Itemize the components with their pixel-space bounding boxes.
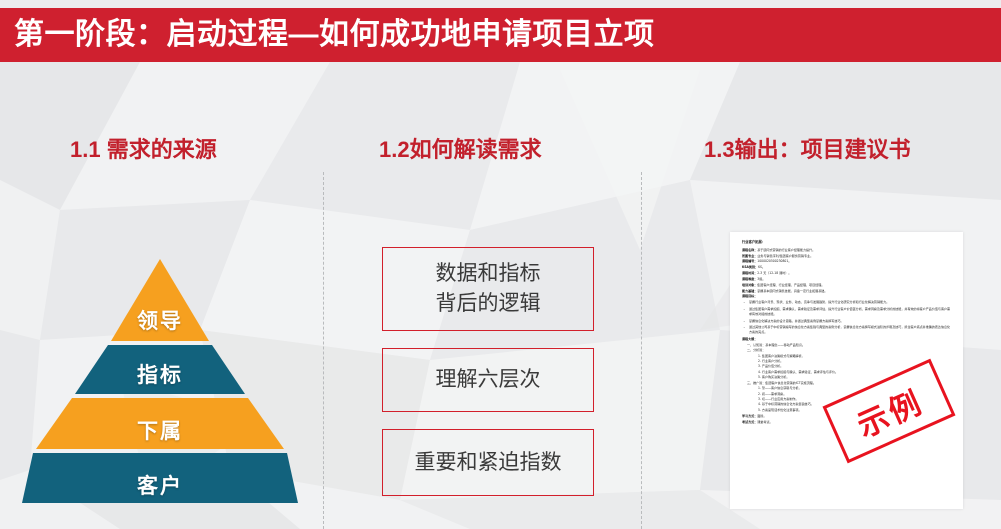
document-outline-section: 二、分析篇：集团客户决策模式与策略解析。行业客户分析。产品价值分析。行业客户需求… [742, 348, 953, 380]
document-page: 行业客户拓展： 课程名称：基于顾问式营销的行业客户经理能力提升。所属专业：业务与… [730, 232, 963, 509]
document-outline-subitem: 方案呈现话术优化注意事项。 [758, 408, 953, 413]
document-goal-list: 掌握行业客户背景、现状、业务、动态、竞争与发展趋势，提升行业化研究分析和行业化解… [742, 300, 953, 335]
document-field: 课程编号：1000020500230801。 [742, 259, 953, 264]
document-field-key: 课程目标： [742, 294, 757, 298]
concept-box-2: 理解六层次 [382, 348, 594, 412]
concept-box-1-text: 数据和指标 背后的逻辑 [436, 259, 541, 319]
concept-box-1: 数据和指标 背后的逻辑 [382, 247, 594, 331]
document-field-key: 课程名称： [742, 248, 757, 252]
document-field-value: 集团客户经理、行业经理、产品经理、项目经理。 [757, 283, 824, 287]
document-outline-section: 三、推广篇：集团客户信息化营销的ICT实施流程。望——客户信息获取与分析。闻——… [742, 381, 953, 413]
document-footer-key: 学习方式： [742, 414, 757, 418]
document-field: 课程时间：2-3 天（12-18 课时）。 [742, 271, 953, 276]
document-field-value: 1000020500230801。 [757, 259, 791, 263]
document-footer: 学习方式：面授。考试方式：课堂考试。 [742, 414, 953, 425]
document-footer-value: 课堂考试。 [757, 420, 772, 424]
slide-title-banner: 第一阶段：启动过程—如何成功地申请项目立项 [0, 8, 1001, 62]
document-outline-subitem: 基于中标营销的信息化方案集锦技巧。 [758, 402, 953, 407]
document-outline-heading: 二、分析篇： [747, 348, 953, 353]
document-title: 行业客户拓展： [742, 240, 953, 245]
document-goal-item: 通过其他公司基于中标营销编写的信息化方案集锦与典型的案例分析，掌握信息化方案撰写… [742, 325, 953, 335]
document-field-value: KS。 [758, 265, 765, 269]
document-outline-sublist: 集团客户决策模式与策略解析。行业客户分析。产品价值分析。行业客户需求挖掘与确认、… [747, 354, 953, 381]
document-field-key: KSA类别： [742, 265, 758, 269]
document-footer-field: 考试方式：课堂考试。 [742, 420, 953, 425]
document-outline-heading: 一、认知篇：基本理念——移动产品知识。 [747, 343, 953, 348]
document-field-value: 掌握基本顾问式销售技能，具备一定行业拓展基础。 [757, 289, 827, 293]
concept-box-3-text: 重要和紧迫指数 [415, 448, 562, 478]
document-field: 课程名称：基于顾问式营销的行业客户经理能力提升。 [742, 248, 953, 253]
document-outline-sublist: 望——客户信息获取与分析。闻——需求洞察。切——行业应用方案制作。基于中标营销的… [747, 386, 953, 413]
document-field-value: 业务与销售序列/集团客户服务营销专业。 [757, 254, 813, 258]
document-field: 课程目标： [742, 294, 953, 299]
document-field: 培训对象：集团客户经理、行业经理、产品经理、项目经理。 [742, 283, 953, 288]
project-proposal-document-preview: 行业客户拓展： 课程名称：基于顾问式营销的行业客户经理能力提升。所属专业：业务与… [730, 232, 963, 509]
pyramid-tier-3 [36, 398, 284, 449]
document-outline-subitem: 集团客户决策模式与策略解析。 [758, 354, 953, 359]
document-outline-subitem: 产品价值分析。 [758, 364, 953, 369]
concept-box-1-line2: 背后的逻辑 [436, 292, 541, 315]
page-title: 第一阶段：启动过程—如何成功地申请项目立项 [0, 20, 655, 50]
document-outline-heading: 三、推广篇：集团客户信息化营销的ICT实施流程。 [747, 381, 953, 386]
concept-box-3: 重要和紧迫指数 [382, 429, 594, 496]
document-field-key: 所属专业： [742, 254, 757, 258]
document-goal-item: 掌握信息化解决方案的设计思路，并通过典型案例掌握方案撰写技巧。 [742, 319, 953, 324]
document-outline-section: 一、认知篇：基本理念——移动产品知识。 [742, 343, 953, 348]
document-field-value: 3级。 [757, 277, 765, 281]
document-field: 能力基础：掌握基本顾问式销售技能，具备一定行业拓展基础。 [742, 289, 953, 294]
document-footer-key: 考试方式： [742, 420, 757, 424]
document-footer-value: 面授。 [757, 414, 766, 418]
document-field-value: 基于顾问式营销的行业客户经理能力提升。 [757, 248, 815, 252]
section-heading-1-2: 1.2如何解读需求 [379, 139, 542, 161]
document-field-key: 培训对象： [742, 283, 757, 287]
document-outline-subitem: 闻——需求洞察。 [758, 392, 953, 397]
column-divider-right [641, 172, 642, 529]
document-field-key: 课程编号： [742, 259, 757, 263]
document-goal-item: 通过集团客户需求挖掘、需求确认、需求验证及需求评估，提升行业客户价值链分析、需求… [742, 307, 953, 317]
document-outline-subitem: 行业客户需求挖掘与确认、需求验证、需求评估与评价。 [758, 370, 953, 375]
document-footer-field: 学习方式：面授。 [742, 414, 953, 419]
stakeholder-pyramid: 领导 指标 下属 客户 [20, 255, 300, 505]
document-field-key: 能力基础： [742, 289, 757, 293]
concept-box-1-line1: 数据和指标 [436, 262, 541, 285]
document-field-key: 课程时间： [742, 271, 757, 275]
concept-box-2-text: 理解六层次 [436, 365, 541, 395]
document-field-key: 课程难度： [742, 277, 757, 281]
document-outline-list: 一、认知篇：基本理念——移动产品知识。二、分析篇：集团客户决策模式与策略解析。行… [742, 343, 953, 413]
document-field-value: 2-3 天（12-18 课时）。 [757, 271, 791, 275]
document-field: 所属专业：业务与销售序列/集团客户服务营销专业。 [742, 254, 953, 259]
section-heading-1-1: 1.1 需求的来源 [70, 139, 217, 161]
document-field: KSA类别：KS。 [742, 265, 953, 270]
document-goal-item: 掌握行业客户背景、现状、业务、动态、竞争与发展趋势，提升行业化研究分析和行业化解… [742, 300, 953, 305]
document-field-list: 课程名称：基于顾问式营销的行业客户经理能力提升。所属专业：业务与销售序列/集团客… [742, 248, 953, 299]
document-field: 课程难度：3级。 [742, 277, 953, 282]
pyramid-tier-2 [75, 345, 245, 394]
section-heading-1-3: 1.3输出：项目建议书 [704, 139, 911, 161]
document-outline-subitem: 客户购买决策分析。 [758, 375, 953, 380]
document-outline-title: 课程大纲： [742, 337, 953, 342]
pyramid-tier-4 [22, 453, 298, 503]
document-outline-subitem: 行业客户分析。 [758, 359, 953, 364]
column-divider-left [323, 172, 324, 529]
pyramid-tier-1 [111, 259, 209, 341]
slide-canvas: 第一阶段：启动过程—如何成功地申请项目立项 1.1 需求的来源 1.2如何解读需… [0, 0, 1001, 529]
document-outline-subitem: 望——客户信息获取与分析。 [758, 386, 953, 391]
